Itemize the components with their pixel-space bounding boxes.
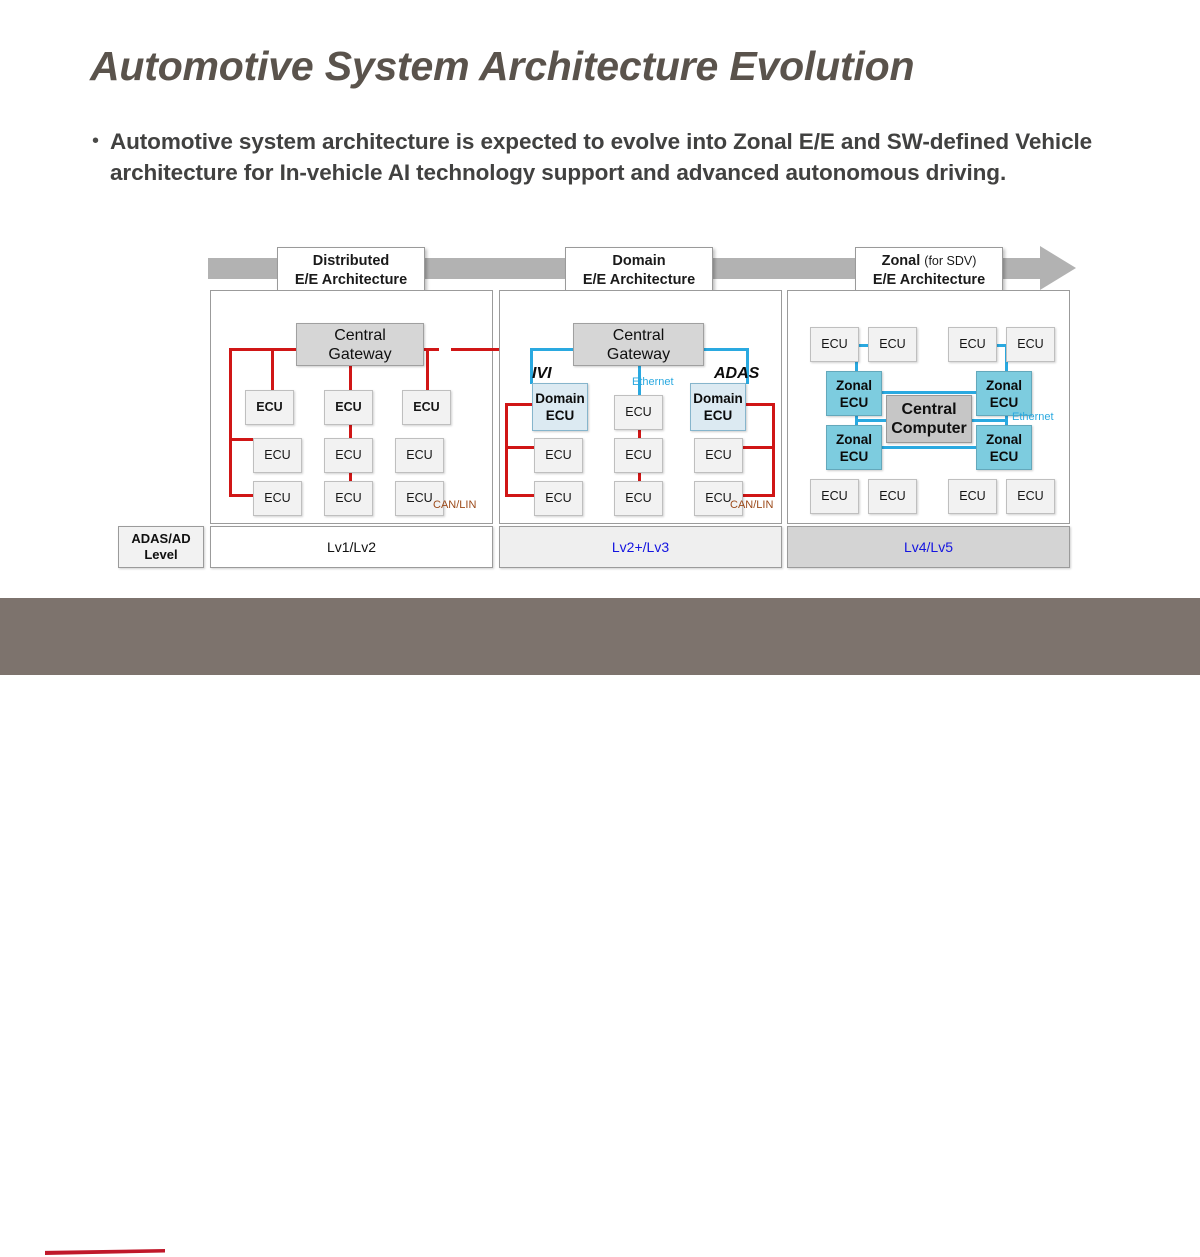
registered-trademark-icon: ® (154, 1237, 161, 1247)
phase-caption-line2: E/E Architecture (295, 272, 407, 288)
phase-caption-line2: E/E Architecture (583, 272, 695, 288)
ethernet-wire (873, 446, 991, 449)
zonal-ecu-box: ZonalECU (976, 371, 1032, 416)
bus-wire (271, 348, 274, 394)
ecu-box: ECU (810, 479, 859, 514)
zonal-ecu-label-line2: ECU (840, 449, 869, 464)
ethernet-label: Ethernet (1012, 411, 1054, 423)
bus-wire (505, 403, 508, 497)
bus-wire (229, 348, 232, 496)
bus-wire (772, 403, 775, 497)
evolution-arrow-head-icon (1040, 246, 1076, 290)
panel-zonal-architecture: ECU ECU ECU ECU ECU ECU ECU ECU ZonalECU… (787, 290, 1070, 524)
ecu-box: ECU (614, 481, 663, 516)
can-lin-label: CAN/LIN (433, 499, 476, 511)
ecu-box: ECU (245, 390, 294, 425)
zonal-ecu-label-line1: Zonal (836, 432, 872, 447)
domain-ecu-label-line1: Domain (535, 391, 585, 406)
ethernet-label: Ethernet (632, 376, 674, 388)
ecu-box: ECU (1006, 479, 1055, 514)
jedec-logo-text: JEDEC (33, 1215, 138, 1253)
phase-caption-domain: Domain E/E Architecture (565, 247, 713, 296)
zonal-ecu-box: ZonalECU (976, 425, 1032, 470)
adas-domain-label: ADAS (714, 365, 759, 383)
adas-level-domain: Lv2+/Lv3 (499, 526, 782, 568)
bus-wire (744, 403, 774, 406)
gateway-label-line2: Gateway (328, 346, 391, 363)
can-lin-label: CAN/LIN (730, 499, 773, 511)
zonal-ecu-label-line2: ECU (990, 449, 1019, 464)
ecu-box: ECU (868, 479, 917, 514)
adas-level-distributed: Lv1/Lv2 (210, 526, 493, 568)
phase-caption-distributed: Distributed E/E Architecture (277, 247, 425, 296)
central-gateway-box: CentralGateway (296, 323, 424, 366)
domain-ecu-label-line1: Domain (693, 391, 743, 406)
phase-caption-main: Domain (612, 253, 665, 269)
phase-caption-zonal: Zonal (for SDV) E/E Architecture (855, 247, 1003, 296)
ecu-box: ECU (614, 438, 663, 473)
footer-bar: JEDEC ® Automotive Electronics Forum 202… (0, 598, 1200, 675)
bus-wire (229, 438, 255, 441)
bus-wire (229, 494, 255, 497)
ethernet-wire (970, 419, 1007, 422)
ethernet-wire (873, 391, 991, 394)
zonal-ecu-label-line2: ECU (990, 395, 1019, 410)
gateway-label-line1: Central (613, 327, 665, 344)
adas-label-line2: Level (144, 547, 177, 562)
bus-wire (742, 446, 774, 449)
bus-wire (505, 403, 532, 406)
central-computer-label-line2: Computer (891, 420, 967, 437)
ecu-box: ECU (810, 327, 859, 362)
domain-ecu-box-adas: DomainECU (690, 383, 746, 431)
zonal-ecu-label-line2: ECU (840, 395, 869, 410)
domain-ecu-box-ivi: DomainECU (532, 383, 588, 431)
bus-wire (426, 348, 429, 394)
bus-wire (505, 494, 535, 497)
ecu-box: ECU (324, 390, 373, 425)
gateway-label-line2: Gateway (607, 346, 670, 363)
zonal-ecu-label-line1: Zonal (986, 432, 1022, 447)
panel-distributed-architecture: CentralGateway ECU ECU ECU ECU ECU ECU E… (210, 290, 493, 524)
zonal-ecu-label-line1: Zonal (986, 378, 1022, 393)
ecu-box: ECU (948, 479, 997, 514)
central-computer-label-line1: Central (901, 401, 956, 418)
ecu-box: ECU (324, 481, 373, 516)
footer-event-title: Automotive Electronics Forum 2024 (183, 1221, 528, 1244)
zonal-ecu-box: ZonalECU (826, 425, 882, 470)
ivi-domain-label: IVI (532, 365, 552, 383)
adas-label-line1: ADAS/AD (131, 531, 190, 546)
zonal-ecu-box: ZonalECU (826, 371, 882, 416)
phase-caption-main: Distributed (313, 253, 390, 269)
ecu-box: ECU (534, 481, 583, 516)
ecu-box: ECU (253, 481, 302, 516)
phase-caption-line2: E/E Architecture (873, 272, 985, 288)
zonal-ecu-label-line1: Zonal (836, 378, 872, 393)
phase-caption-sub: (for SDV) (924, 254, 976, 268)
central-gateway-box: CentralGateway (573, 323, 704, 366)
ecu-box: ECU (324, 438, 373, 473)
domain-ecu-label-line2: ECU (704, 408, 733, 423)
slide: Automotive System Architecture Evolution… (0, 0, 1200, 675)
bus-wire (742, 494, 774, 497)
central-computer-box: CentralComputer (886, 395, 972, 443)
phase-caption-main: Zonal (882, 253, 921, 269)
jedec-logo: JEDEC ® (33, 1215, 173, 1257)
ecu-box: ECU (948, 327, 997, 362)
architecture-evolution-diagram: Distributed E/E Architecture Domain E/E … (0, 0, 1200, 600)
ecu-box: ECU (534, 438, 583, 473)
ecu-box: ECU (614, 395, 663, 430)
panel-domain-architecture: CentralGateway IVI ADAS DomainECU Domain… (499, 290, 782, 524)
domain-ecu-label-line2: ECU (546, 408, 575, 423)
ecu-box: ECU (694, 438, 743, 473)
ecu-box: ECU (402, 390, 451, 425)
ecu-box: ECU (1006, 327, 1055, 362)
ecu-box: ECU (395, 438, 444, 473)
bus-wire (505, 446, 535, 449)
gateway-label-line1: Central (334, 327, 386, 344)
ecu-box: ECU (253, 438, 302, 473)
ecu-box: ECU (868, 327, 917, 362)
adas-level-zonal: Lv4/Lv5 (787, 526, 1070, 568)
adas-ad-level-label: ADAS/ADLevel (118, 526, 204, 568)
